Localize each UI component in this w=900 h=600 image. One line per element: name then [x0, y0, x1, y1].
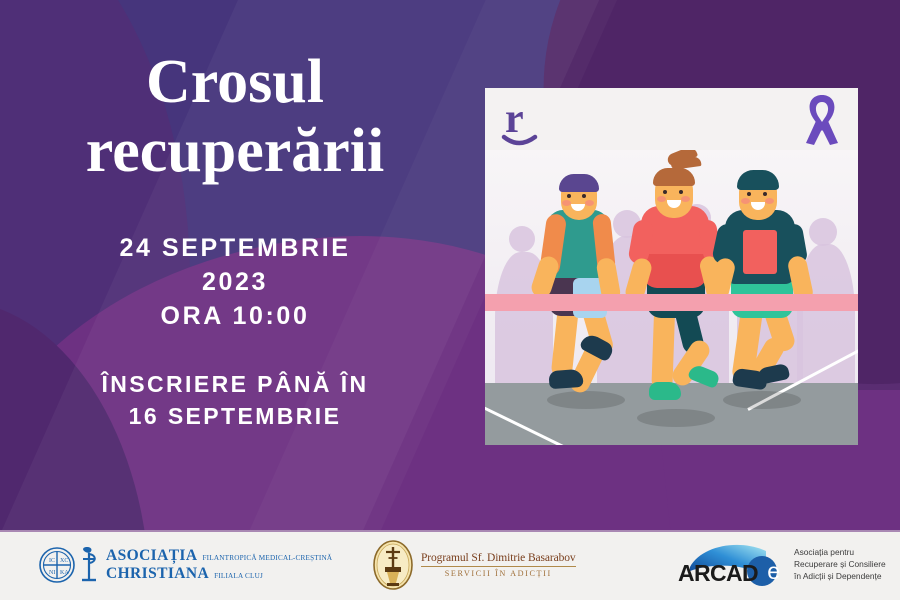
- page-title: Crosul recuperării: [86, 48, 384, 187]
- r-brand-icon: r: [499, 96, 557, 148]
- arcade-tagline-line1: Asociația pentru: [794, 547, 886, 559]
- svg-text:XC: XC: [60, 558, 68, 564]
- sfdimitrie-wordmark: Programul Sf. Dimitrie Basarabov SERVICI…: [421, 552, 576, 578]
- poster-root: Crosul recuperării 24 SEPTEMBRIE 2023 OR…: [0, 0, 900, 600]
- event-date-year: 2023: [119, 265, 350, 299]
- logo-programul-sf-dimitrie[interactable]: Programul Sf. Dimitrie Basarabov SERVICI…: [372, 539, 576, 591]
- text-column: Crosul recuperării 24 SEPTEMBRIE 2023 OR…: [0, 0, 470, 530]
- caduceus-icon: [78, 545, 100, 585]
- event-date-day-month: 24 SEPTEMBRIE: [119, 231, 350, 265]
- svg-text:IC: IC: [49, 558, 55, 564]
- title-line-2: recuperării: [86, 117, 384, 186]
- arcade-mark: ARCAD e: [678, 541, 786, 589]
- christiana-wordmark: ASOCIAȚIA Filantropică Medical-Creștină …: [106, 547, 332, 583]
- title-line-1: Crosul: [146, 48, 324, 116]
- event-time: ORA 10:00: [119, 299, 350, 333]
- chalice-cross-icon: [372, 539, 414, 591]
- christiana-emblem-icon: IC XC NI KA: [38, 546, 76, 584]
- registration-deadline-block: ÎNSCRIERE PÂNĂ ÎN 16 SEPTEMBRIE: [102, 369, 369, 432]
- arcade-wordmark: ARCAD: [678, 560, 758, 587]
- svg-text:r: r: [505, 96, 524, 142]
- sfdimitrie-line2: SERVICII ÎN ADICȚII: [421, 569, 576, 578]
- svg-text:NI: NI: [49, 570, 55, 576]
- finish-line-tape: [485, 294, 858, 311]
- deadline-date: 16 SEPTEMBRIE: [102, 401, 369, 433]
- logo-asociatia-christiana[interactable]: IC XC NI KA ASOCIAȚIA Filantropică Medic…: [38, 545, 332, 585]
- arcade-wordmark-accent: e: [767, 558, 780, 585]
- christiana-line1-main: ASOCIAȚIA: [106, 547, 197, 565]
- svg-text:KA: KA: [60, 570, 69, 576]
- event-date-block: 24 SEPTEMBRIE 2023 ORA 10:00: [119, 231, 350, 333]
- arcade-tagline-line3: în Adicții și Dependențe: [794, 571, 886, 583]
- awareness-ribbon-icon: [796, 91, 848, 149]
- footer-divider: [0, 530, 900, 532]
- sponsor-footer: IC XC NI KA ASOCIAȚIA Filantropică Medic…: [0, 530, 900, 600]
- sfdimitrie-line1: Programul Sf. Dimitrie Basarabov: [421, 552, 576, 567]
- arcade-tagline: Asociația pentru Recuperare și Consilier…: [794, 547, 886, 583]
- logo-arcade[interactable]: ARCAD e Asociația pentru Recuperare și C…: [678, 541, 886, 589]
- christiana-line2-sub: Filiala Cluj: [214, 572, 263, 580]
- christiana-line1-sub: Filantropică Medical-Creștină: [202, 554, 332, 562]
- arcade-tagline-line2: Recuperare și Consiliere: [794, 559, 886, 571]
- illustration-panel: r: [485, 88, 858, 445]
- deadline-label: ÎNSCRIERE PÂNĂ ÎN: [102, 369, 369, 401]
- christiana-line2-main: CHRISTIANA: [106, 565, 209, 583]
